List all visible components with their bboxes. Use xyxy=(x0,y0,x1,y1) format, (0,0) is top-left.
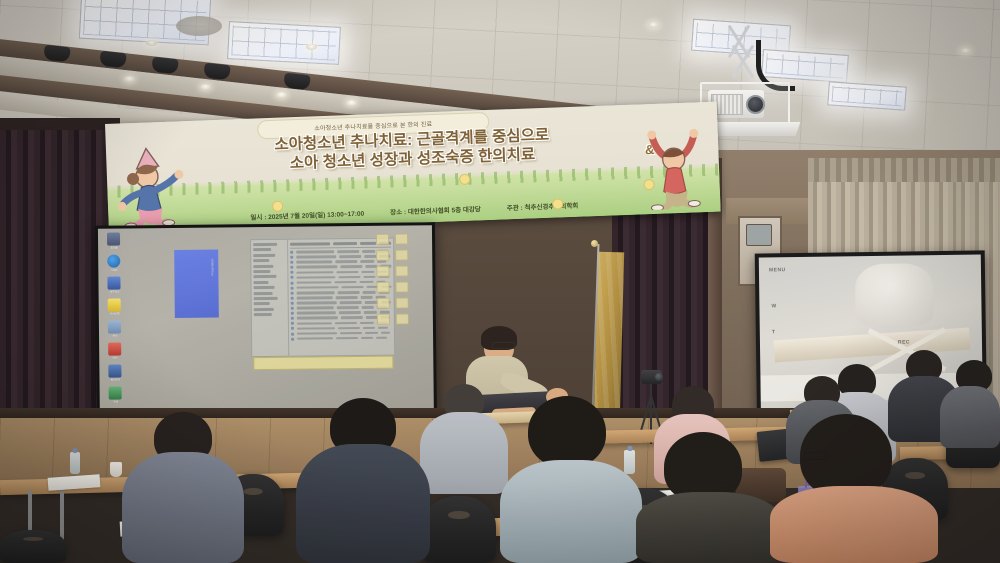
bottle-cap-icon xyxy=(627,446,632,451)
folder-icon[interactable] xyxy=(395,250,408,261)
water-bottle-1 xyxy=(624,450,635,474)
ceiling-spot-1 xyxy=(146,40,157,46)
feed-menu-label: MENU xyxy=(769,267,786,273)
folder-icon[interactable] xyxy=(377,314,390,325)
folder-icon[interactable] xyxy=(396,314,409,325)
pdf-icon[interactable]: PDF xyxy=(108,343,121,356)
audience-body-near-3 xyxy=(500,460,642,563)
desktop-icon-label: PDF xyxy=(103,356,127,359)
paper-cup-1 xyxy=(110,462,122,477)
right-drape-valance xyxy=(808,158,1000,184)
bottle-cap-icon xyxy=(73,448,78,453)
folder-icon[interactable] xyxy=(377,298,390,309)
folder-icon[interactable] xyxy=(395,234,408,245)
file-explorer-window[interactable] xyxy=(250,238,395,358)
desktop-folder-grid xyxy=(376,233,427,325)
presentation-window-label: Presentation xyxy=(210,259,214,276)
desktop-icon-label: 네트워크 xyxy=(103,290,127,293)
ceiling-light-2 xyxy=(227,21,341,65)
door-window xyxy=(746,224,772,246)
folder-icon[interactable] xyxy=(395,266,408,277)
ceiling-spot-2 xyxy=(306,44,317,50)
desktop-icon-label: 플레이어 xyxy=(103,378,127,381)
flag-finial-icon xyxy=(591,240,598,247)
feed-t-label: T xyxy=(772,329,776,335)
folder-icon[interactable] xyxy=(395,282,408,293)
chair-back-4[interactable] xyxy=(0,530,66,563)
desktop-icon-label: 카카오톡 xyxy=(103,312,127,315)
desktop-icon-label: Edge xyxy=(102,268,126,271)
desktop-icon-label: 문서 xyxy=(103,334,127,337)
feed-w-label: W xyxy=(771,303,776,309)
ceiling-vent-icon xyxy=(176,16,222,36)
soffit-downlight-3 xyxy=(276,92,287,98)
kakao-icon[interactable]: 카카오톡 xyxy=(108,299,121,312)
audience-body-near-5 xyxy=(770,486,938,563)
audience-body-near-4 xyxy=(636,492,782,563)
table-leg-2 xyxy=(60,490,64,542)
audience-body-far-3 xyxy=(940,386,1000,448)
lecture-hall-photo: 소아청소년 추나치료를 중심으로 본 한의 진료 소아청소년 추나치료: 근골격… xyxy=(0,0,1000,563)
projector-lens-icon xyxy=(746,95,765,114)
boy-character-icon xyxy=(642,128,707,210)
audience-glasses-icon xyxy=(804,452,828,460)
feed-patient-torso xyxy=(855,263,934,326)
desktop-icon-label: 휴지통 xyxy=(102,246,126,249)
event-banner: 소아청소년 추나치료를 중심으로 본 한의 진료 소아청소년 추나치료: 근골격… xyxy=(105,102,721,234)
folder-icon[interactable] xyxy=(376,266,389,277)
excel-icon[interactable]: 엑셀 xyxy=(109,387,122,400)
water-bottle-3 xyxy=(70,452,80,474)
network-icon[interactable]: 네트워크 xyxy=(107,277,120,290)
table-row[interactable] xyxy=(291,326,392,330)
ceiling-spot-3 xyxy=(648,22,659,28)
folder-icon[interactable] xyxy=(376,282,389,293)
audience-head-near-3 xyxy=(528,396,606,468)
player-icon[interactable]: 플레이어 xyxy=(108,365,121,378)
audience-body-mid-1 xyxy=(420,412,508,494)
audience-body-near-1 xyxy=(122,452,244,563)
document-icon[interactable]: 문서 xyxy=(108,321,121,334)
girl-character-icon xyxy=(116,143,197,230)
desktop-icon-label: 엑셀 xyxy=(104,400,128,403)
desktop-icon-column: 휴지통 Edge 네트워크 카카오톡 문서 PDF 플레이어 엑셀 xyxy=(102,232,132,399)
audience-body-near-2 xyxy=(296,444,430,563)
video-camera xyxy=(641,370,662,384)
table-row[interactable] xyxy=(291,331,392,335)
presenter-glasses-icon xyxy=(492,342,515,349)
table-row[interactable] xyxy=(291,336,392,340)
chair-back-2[interactable] xyxy=(422,496,496,563)
soffit-downlight-4 xyxy=(346,100,357,106)
soffit-downlight-2 xyxy=(200,84,211,90)
folder-icon[interactable] xyxy=(376,250,389,261)
explorer-nav-pane[interactable] xyxy=(251,240,289,356)
edge-icon[interactable]: Edge xyxy=(107,255,120,268)
feed-rec-label: REC xyxy=(898,339,910,345)
folder-icon[interactable] xyxy=(376,234,389,245)
recycle-bin-icon[interactable]: 휴지통 xyxy=(107,233,120,246)
ceiling-spot-4 xyxy=(960,48,971,54)
ceremonial-flag xyxy=(594,252,624,421)
folder-icon[interactable] xyxy=(396,298,409,309)
explorer-status-bar xyxy=(253,356,393,370)
soffit-downlight-1 xyxy=(124,76,135,82)
